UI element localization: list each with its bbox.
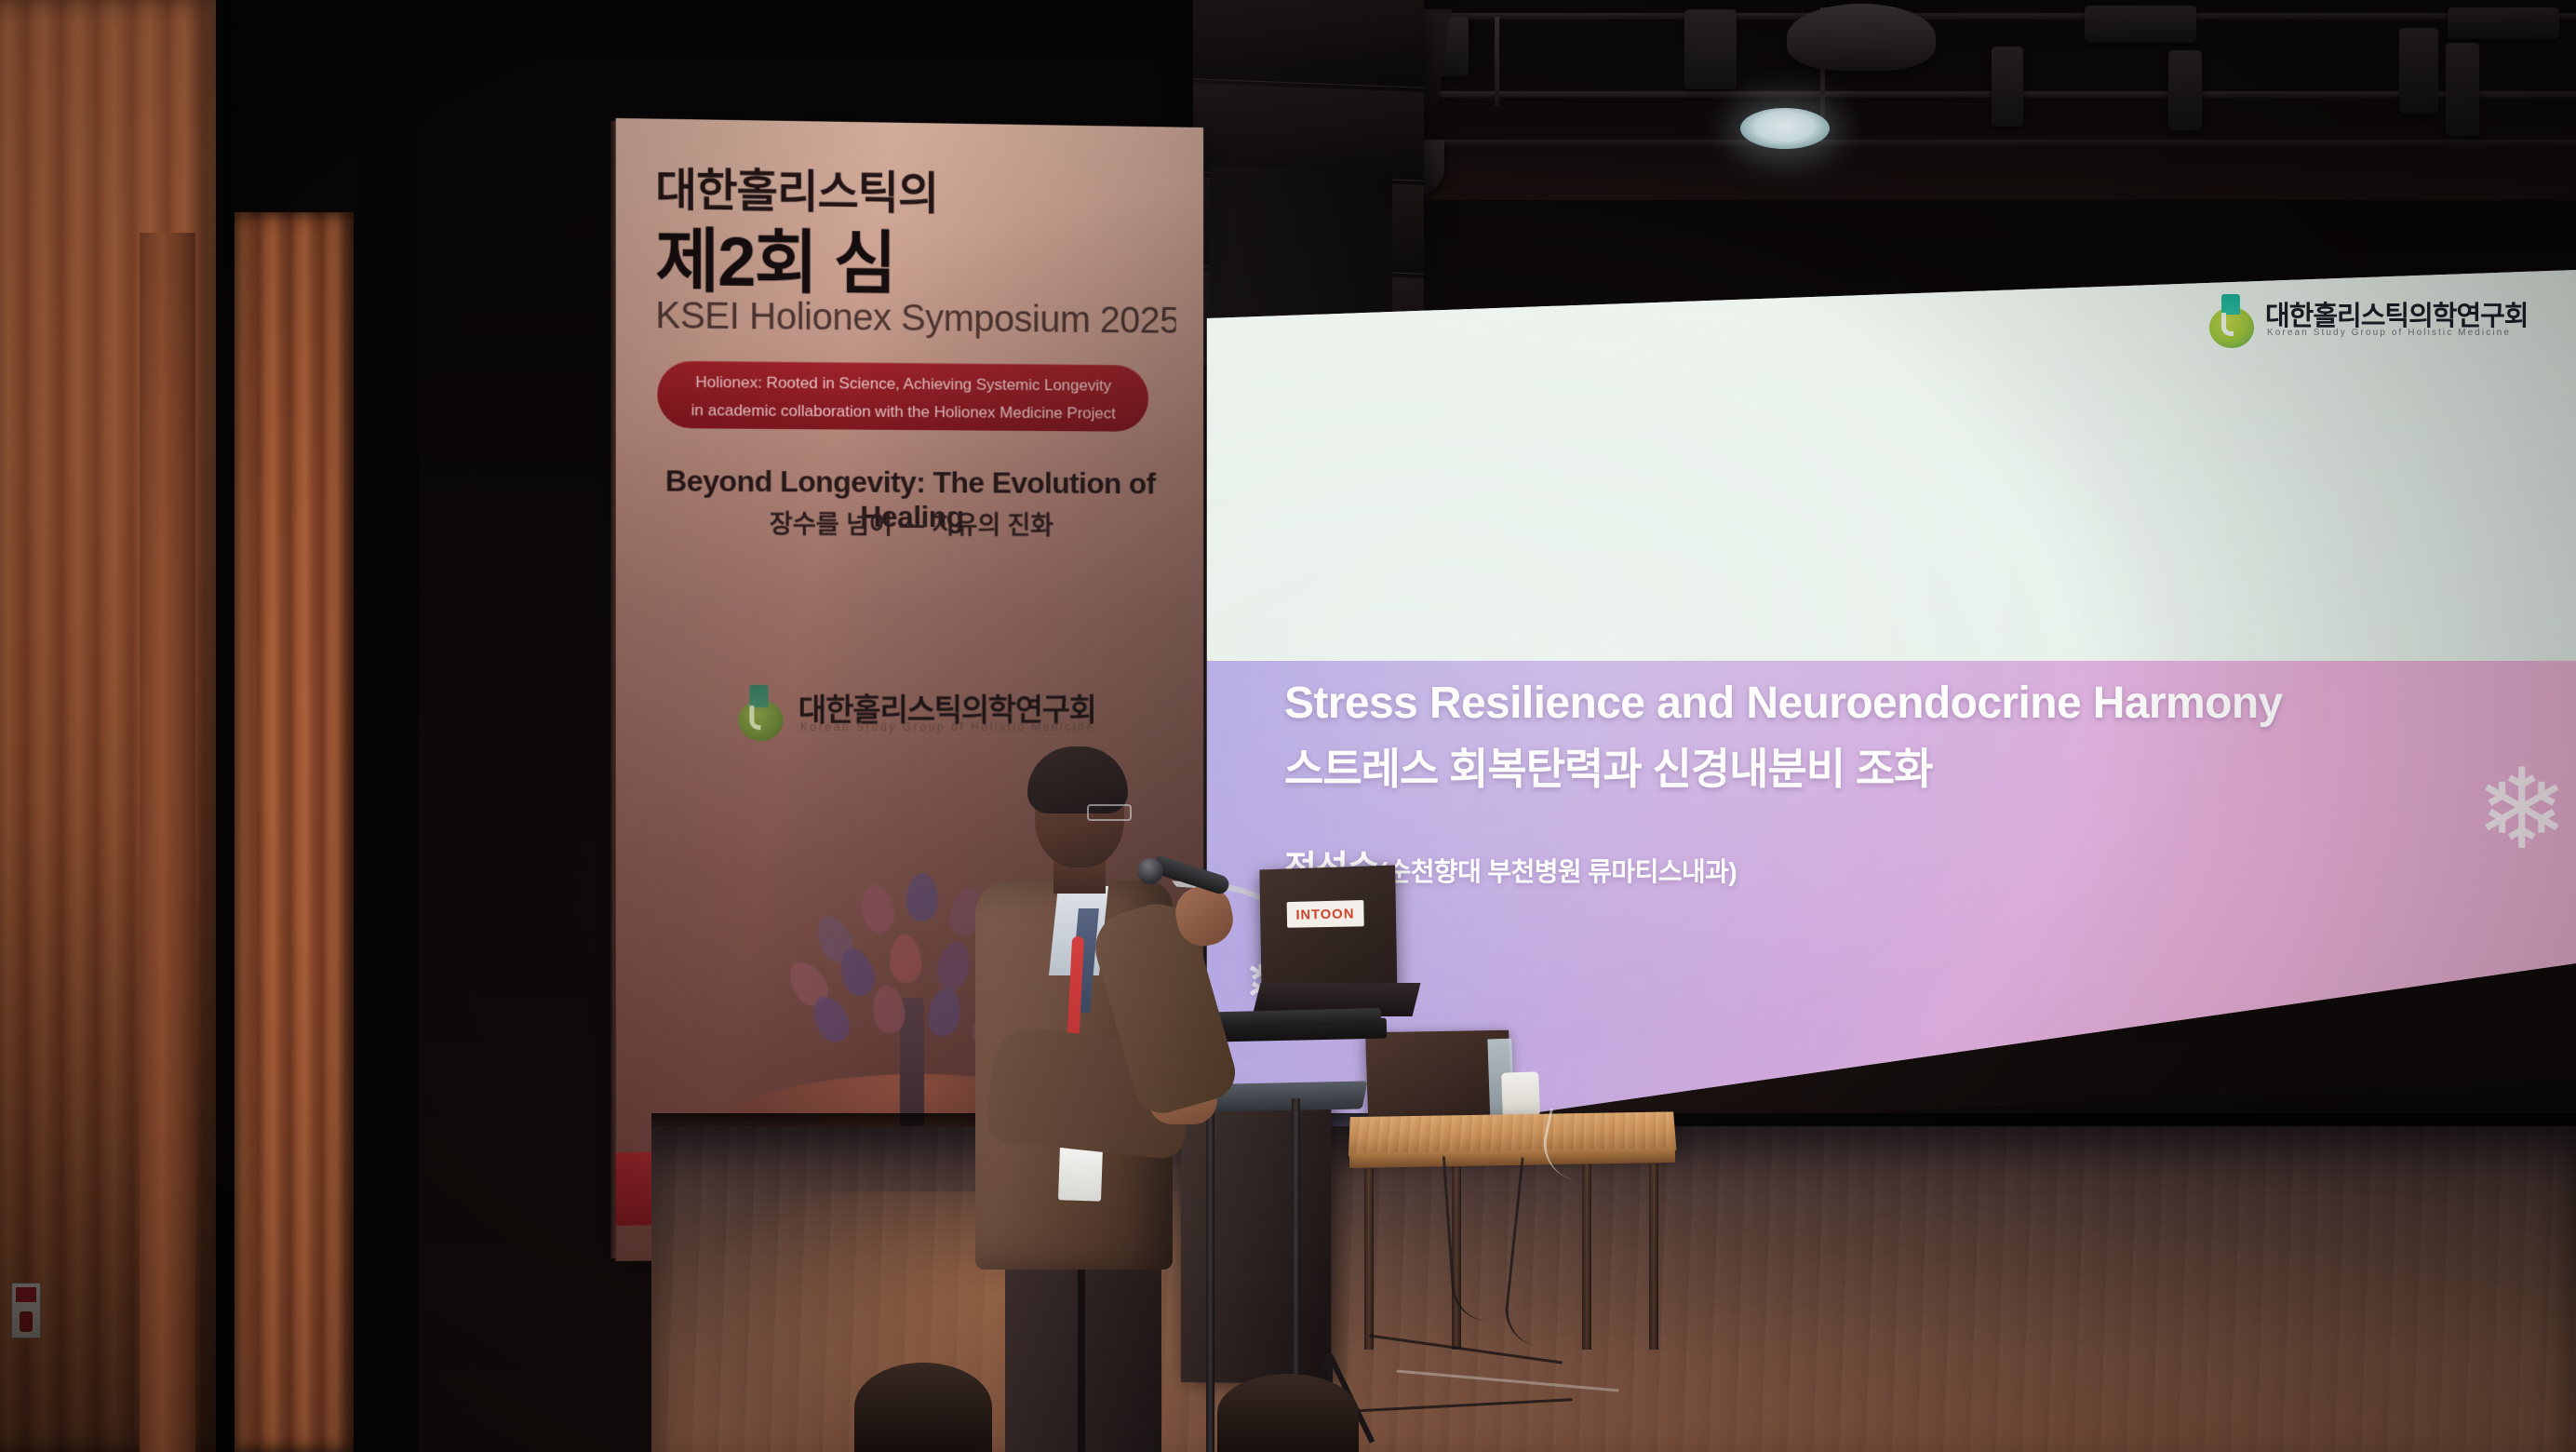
wall-gap-shadow-2 <box>354 0 419 1452</box>
holistic-medicine-logo-icon <box>2209 294 2256 348</box>
stage-light-fixture <box>2168 50 2202 130</box>
stage-scene: 대한홀리스틱의 제2회 심 KSEI Holionex Symposium 20… <box>0 0 2576 1452</box>
presenter-name-badge <box>1058 1146 1103 1202</box>
banner-tagline-line-2: in academic collaboration with the Holio… <box>657 402 1148 423</box>
stage-light-fixture <box>2085 6 2196 43</box>
audience-head <box>1217 1374 1359 1452</box>
device-brand-label: INTOON <box>1287 900 1364 928</box>
banner-title-korean-2: 제2회 심 <box>655 205 1139 310</box>
stage-light-fixture <box>1992 47 2023 127</box>
stage-light-fixture <box>1787 4 1936 71</box>
table-leg <box>1582 1163 1591 1350</box>
slide-title-english: Stress Resilience and Neuroendocrine Har… <box>1284 678 2283 729</box>
table-leg <box>1649 1163 1658 1350</box>
snowflake-icon-right: ❄ <box>2475 754 2569 866</box>
stage-light-fixture <box>2448 7 2559 39</box>
banner-tagline-line-1: Holionex: Rooted in Science, Achieving S… <box>657 374 1148 395</box>
fire-extinguisher-sign-icon <box>11 1283 41 1338</box>
slide-organization-logo: 대한홀리스틱의학연구회 Korean Study Group of Holist… <box>2209 292 2498 352</box>
presentation-device: INTOON <box>1259 865 1397 990</box>
table-leg <box>1364 1163 1374 1350</box>
banner-organization-logo: 대한홀리스틱의학연구회 Korean Study Group of Holist… <box>736 681 1090 746</box>
wood-slat-wall-inner <box>140 233 195 1452</box>
audience-head <box>854 1363 992 1452</box>
glasses-icon <box>1087 804 1132 821</box>
stage-light-lit-icon <box>1740 108 1830 149</box>
holistic-medicine-logo-icon <box>736 685 786 741</box>
wood-slat-wall-second <box>235 212 354 1452</box>
stage-light-fixture <box>2446 43 2479 136</box>
wall-gap-shadow <box>216 0 236 1452</box>
slide-title-korean: 스트레스 회복탄력과 신경내분비 조화 <box>1284 735 1932 797</box>
device-brand-text: INTOON <box>1295 906 1354 922</box>
presenter <box>949 745 1247 1452</box>
stage-light-fixture <box>2399 28 2438 114</box>
ceiling-lighting-truss <box>1349 0 2576 200</box>
banner-subtitle-korean: 장수를 넘어 — 치유의 진화 <box>616 503 1203 542</box>
banner-tagline-pill: Holionex: Rooted in Science, Achieving S… <box>657 360 1148 431</box>
banner-title-english: KSEI Holionex Symposium 2025 <box>655 295 1175 343</box>
slide-speaker-affiliation: (순천향대 부천병원 류마티스내과) <box>1379 857 1737 886</box>
slide-logo-english-text: Korean Study Group of Holistic Medicine <box>2267 328 2511 338</box>
banner-logo-english-text: Korean Study Group of Holistic Medicine <box>800 720 1095 733</box>
power-adapter <box>1501 1071 1540 1117</box>
stage-light-fixture <box>1684 9 1737 89</box>
presenter-leg-divider <box>1078 1266 1085 1452</box>
